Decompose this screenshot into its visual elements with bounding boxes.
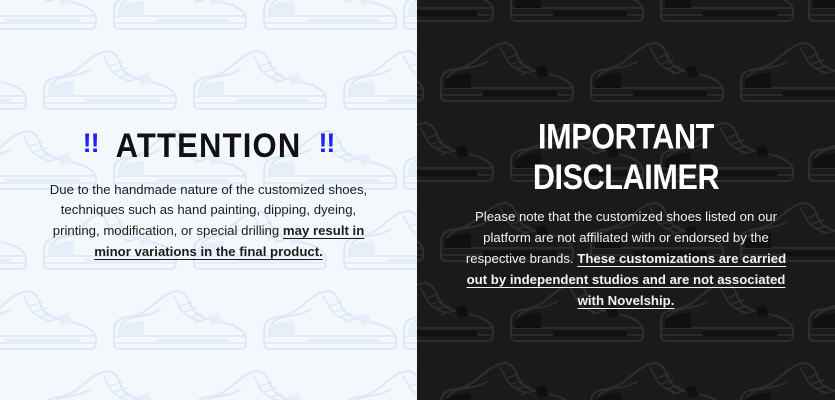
double-exclamation-right-icon: !! [318,130,334,157]
disclaimer-title: IMPORTANT DISCLAIMER [417,118,835,197]
attention-body-text: Due to the handmade nature of the custom… [49,180,369,263]
attention-headline: !! ATTENTION !! [0,130,417,162]
attention-content: !! ATTENTION !! Due to the handmade natu… [0,0,417,263]
attention-title: ATTENTION [116,128,302,163]
double-exclamation-left-icon: !! [83,130,99,157]
disclaimer-panel: IMPORTANT DISCLAIMER Please note that th… [417,0,835,400]
disclaimer-content: IMPORTANT DISCLAIMER Please note that th… [417,0,835,311]
disclaimer-body-text: Please note that the customized shoes li… [465,207,787,311]
disclaimer-title-line-2: DISCLAIMER [417,158,835,198]
disclaimer-title-line-1: IMPORTANT [417,118,835,158]
disclaimer-banner: !! ATTENTION !! Due to the handmade natu… [0,0,835,400]
attention-panel: !! ATTENTION !! Due to the handmade natu… [0,0,417,400]
